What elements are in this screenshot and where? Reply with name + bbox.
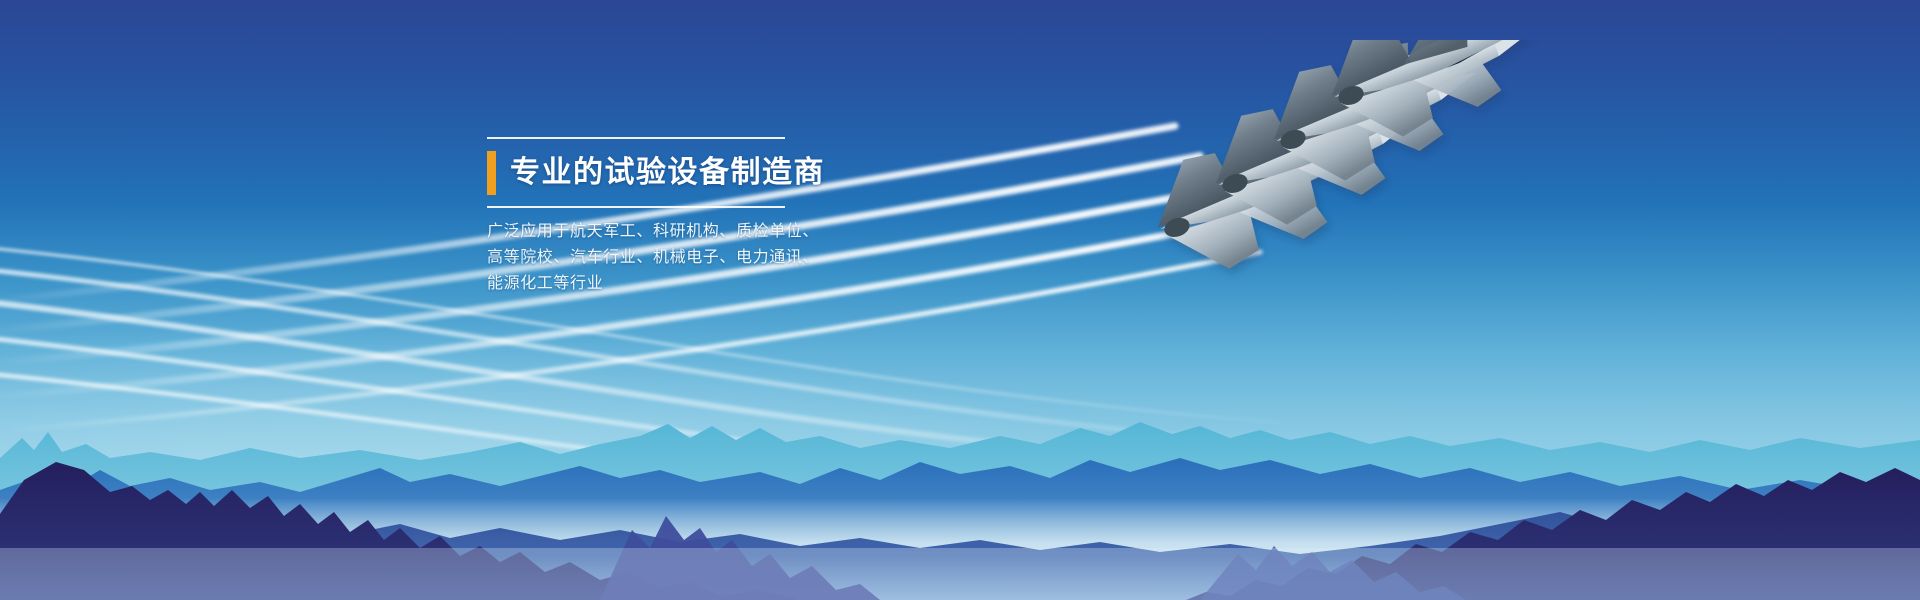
subtext-line-2: 高等院校、汽车行业、机械电子、电力通讯、	[487, 245, 827, 271]
subtext-line-1: 广泛应用于航天军工、科研机构、质检单位、	[487, 219, 827, 245]
hero-banner: 专业的试验设备制造商 广泛应用于航天军工、科研机构、质检单位、 高等院校、汽车行…	[0, 0, 1920, 600]
divider-bottom	[487, 206, 785, 208]
hero-subtext: 广泛应用于航天军工、科研机构、质检单位、 高等院校、汽车行业、机械电子、电力通讯…	[487, 219, 827, 297]
page-title: 专业的试验设备制造商	[510, 151, 825, 195]
hero-text-block: 专业的试验设备制造商 广泛应用于航天军工、科研机构、质检单位、 高等院校、汽车行…	[487, 137, 827, 297]
mist-low	[0, 548, 1920, 600]
fighter-jet-formation	[1130, 40, 1920, 360]
headline-row: 专业的试验设备制造商	[487, 151, 827, 195]
accent-bar	[487, 151, 496, 195]
subtext-line-3: 能源化工等行业	[487, 271, 827, 297]
divider-top	[487, 137, 785, 139]
mountain-range	[0, 340, 1920, 600]
